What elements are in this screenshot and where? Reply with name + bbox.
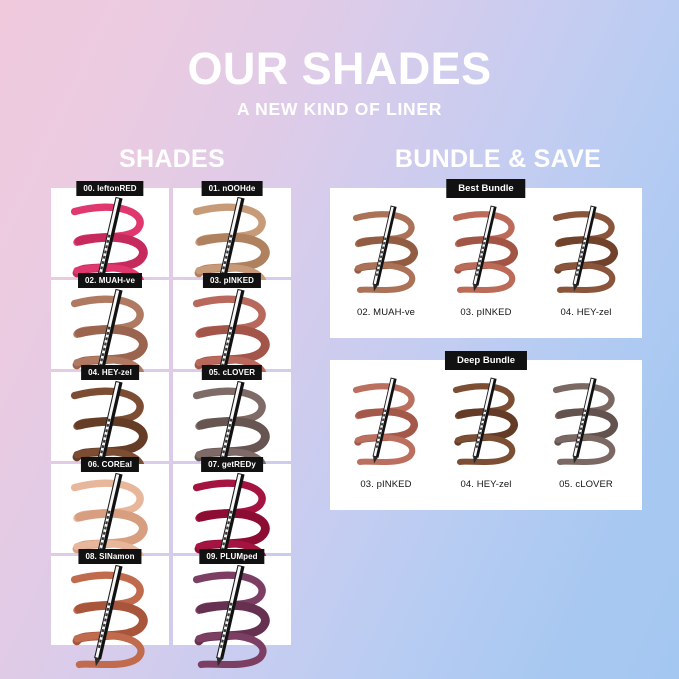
shades-heading: SHADES [22,145,322,174]
shade-label-badge: 07. getREDy [201,457,263,472]
pencil-stripe [576,207,596,285]
liner-pencil [471,378,496,464]
bundle-item-label: 04. HEY-zel [461,479,512,490]
shade-label-badge: 09. PLUMped [199,549,264,564]
shade-swatch-art [336,198,436,298]
pencil-stripe [220,566,244,659]
shade-card[interactable]: 08. SINamon [51,556,169,645]
bundle-item[interactable]: 04. HEY-zel [436,370,536,506]
bundle-item[interactable]: 05. cLOVER [536,370,636,506]
shade-swatch-art [536,370,636,470]
bundle-title-badge: Best Bundle [446,179,525,198]
content-area: SHADES 00. leftonRED01. nOOHde02. MUAH-v… [0,145,679,645]
shade-label-badge: 04. HEY-zel [81,365,139,380]
shade-card[interactable]: 04. HEY-zel [51,372,169,461]
bundle-swatch [336,198,436,306]
shades-grid: 00. leftonRED01. nOOHde02. MUAH-ve03. pI… [51,188,322,645]
bundle-items: 03. pINKED04. HEY-zel05. cLOVER [330,360,642,510]
swatch-stroke [358,437,412,462]
bundle-swatch [436,198,536,306]
bundle-panel[interactable]: Best Bundle02. MUAH-ve03. pINKED04. HEY-… [330,188,642,338]
liner-pencil [371,378,396,464]
pencil-stripe [476,207,496,285]
shade-card[interactable]: 00. leftonRED [51,188,169,277]
shade-swatch-art [336,370,436,470]
swatch-stroke [458,437,512,462]
bundle-swatch [536,198,636,306]
bundle-item-label: 03. pINKED [460,307,511,318]
bundle-item[interactable]: 02. MUAH-ve [336,198,436,334]
bundle-item-label: 04. HEY-zel [561,307,612,318]
shade-swatch-art [51,556,169,674]
pencil-stripe [98,566,122,659]
swatch-stroke [77,636,141,665]
bundle-item-label: 03. pINKED [360,479,411,490]
shade-label-badge: 05. cLOVER [202,365,262,380]
shade-label-badge: 02. MUAH-ve [78,273,142,288]
bundles-section: BUNDLE & SAVE Best Bundle02. MUAH-ve03. … [330,145,660,532]
shade-swatch-art [173,556,291,674]
bundle-item[interactable]: 03. pINKED [436,198,536,334]
shade-label-badge: 08. SINamon [78,549,141,564]
pencil-stripe [476,379,496,457]
swatch-stroke [358,265,412,290]
shade-label-badge: 06. COREal [81,457,139,472]
bundle-title-badge: Deep Bundle [445,351,527,370]
bundle-item[interactable]: 03. pINKED [336,370,436,506]
swatch-stroke [558,437,612,462]
shade-card[interactable]: 06. COREal [51,464,169,553]
shade-swatch-art [536,198,636,298]
swatch-stroke [558,265,612,290]
shade-card[interactable]: 01. nOOHde [173,188,291,277]
shades-section: SHADES 00. leftonRED01. nOOHde02. MUAH-v… [22,145,322,645]
page-title: OUR SHADES [0,46,679,91]
shade-card[interactable]: 03. pINKED [173,280,291,369]
swatch-stroke [199,636,263,665]
page-subtitle: A NEW KIND OF LINER [0,99,679,120]
bundle-item-label: 05. cLOVER [559,479,613,490]
liner-pencil [471,206,496,292]
shade-card[interactable]: 02. MUAH-ve [51,280,169,369]
liner-pencil [215,566,244,667]
shade-swatch-art [436,198,536,298]
shade-card[interactable]: 05. cLOVER [173,372,291,461]
shade-card[interactable]: 07. getREDy [173,464,291,553]
pencil-stripe [376,379,396,457]
liner-pencil [571,206,596,292]
shade-card[interactable]: 09. PLUMped [173,556,291,645]
pencil-stripe [576,379,596,457]
liner-pencil [371,206,396,292]
bundle-item[interactable]: 04. HEY-zel [536,198,636,334]
bundle-panel[interactable]: Deep Bundle03. pINKED04. HEY-zel05. cLOV… [330,360,642,510]
shade-swatch-art [436,370,536,470]
shade-label-badge: 03. pINKED [203,273,261,288]
shade-label-badge: 00. leftonRED [76,181,143,196]
bundle-swatch [436,370,536,478]
shade-label-badge: 01. nOOHde [202,181,263,196]
swatch-stroke [458,265,512,290]
liner-pencil [571,378,596,464]
bundle-item-label: 02. MUAH-ve [357,307,415,318]
bundles-heading: BUNDLE & SAVE [336,145,660,174]
liner-pencil [93,566,122,667]
bundle-swatch [536,370,636,478]
bundles-list: Best Bundle02. MUAH-ve03. pINKED04. HEY-… [330,188,660,510]
bundle-swatch [336,370,436,478]
pencil-stripe [376,207,396,285]
page-header: OUR SHADES A NEW KIND OF LINER [0,0,679,120]
bundle-items: 02. MUAH-ve03. pINKED04. HEY-zel [330,188,642,338]
